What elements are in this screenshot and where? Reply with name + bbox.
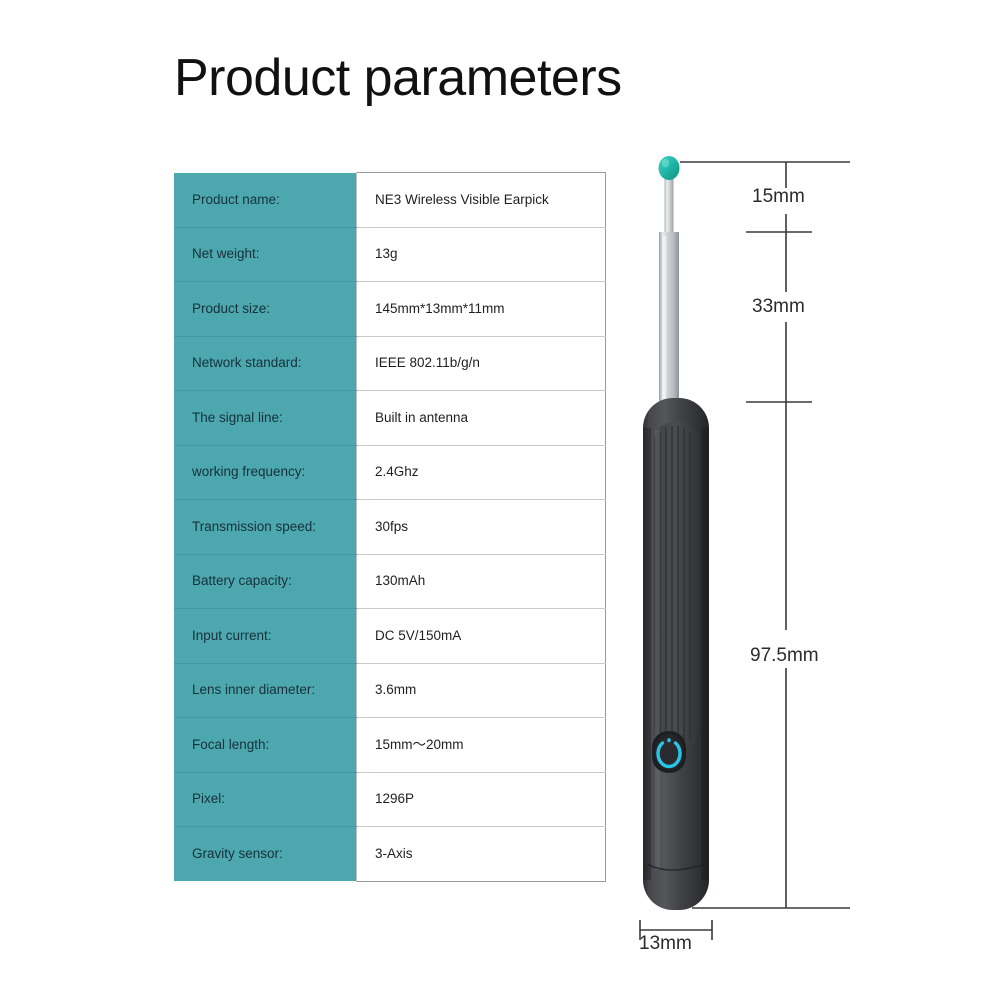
spec-key: Transmission speed: bbox=[174, 500, 357, 555]
table-row: Transmission speed: 30fps bbox=[174, 500, 606, 555]
spec-value: 13g bbox=[357, 227, 606, 282]
table-row: Input current: DC 5V/150mA bbox=[174, 609, 606, 664]
specification-table: Product name: NE3 Wireless Visible Earpi… bbox=[174, 172, 606, 882]
spec-key: working frequency: bbox=[174, 445, 357, 500]
table-row: Gravity sensor: 3-Axis bbox=[174, 827, 606, 882]
handle-right-shadow bbox=[701, 428, 709, 880]
table-row: Lens inner diameter: 3.6mm bbox=[174, 663, 606, 718]
table-row: Product size: 145mm*13mm*11mm bbox=[174, 282, 606, 337]
table-row: The signal line: Built in antenna bbox=[174, 391, 606, 446]
spec-key: Focal length: bbox=[174, 718, 357, 773]
spec-key: Net weight: bbox=[174, 227, 357, 282]
spec-key: Product size: bbox=[174, 282, 357, 337]
table-row: Net weight: 13g bbox=[174, 227, 606, 282]
spec-value: 15mm～20mm bbox=[357, 718, 606, 773]
spec-value: 130mAh bbox=[357, 554, 606, 609]
silicone-tip bbox=[659, 156, 680, 180]
table-row: Product name: NE3 Wireless Visible Earpi… bbox=[174, 173, 606, 228]
spec-value: IEEE 802.11b/g/n bbox=[357, 336, 606, 391]
spec-key: Input current: bbox=[174, 609, 357, 664]
dimension-label-tip-section: 15mm bbox=[752, 186, 805, 208]
silicone-tip-highlight bbox=[662, 159, 669, 168]
spec-key: The signal line: bbox=[174, 391, 357, 446]
spec-value: 30fps bbox=[357, 500, 606, 555]
spec-value: 145mm*13mm*11mm bbox=[357, 282, 606, 337]
product-illustration bbox=[600, 140, 920, 940]
spec-value: 3-Axis bbox=[357, 827, 606, 882]
spec-key: Network standard: bbox=[174, 336, 357, 391]
table-row: Network standard: IEEE 802.11b/g/n bbox=[174, 336, 606, 391]
dimension-label-shaft-section: 33mm bbox=[752, 296, 805, 318]
table-row: Pixel: 1296P bbox=[174, 772, 606, 827]
handle-highlight bbox=[655, 430, 660, 870]
dimension-label-handle-length: 97.5mm bbox=[750, 645, 819, 667]
metal-shaft-highlight bbox=[663, 236, 666, 408]
spec-value: Built in antenna bbox=[357, 391, 606, 446]
handle-left-shadow bbox=[643, 428, 651, 880]
spec-value: 2.4Ghz bbox=[357, 445, 606, 500]
spec-value: DC 5V/150mA bbox=[357, 609, 606, 664]
spec-key: Battery capacity: bbox=[174, 554, 357, 609]
metal-shaft bbox=[659, 232, 679, 410]
table-row: Focal length: 15mm～20mm bbox=[174, 718, 606, 773]
spec-key: Pixel: bbox=[174, 772, 357, 827]
spec-key: Gravity sensor: bbox=[174, 827, 357, 882]
spec-value: 3.6mm bbox=[357, 663, 606, 718]
spec-value: NE3 Wireless Visible Earpick bbox=[357, 173, 606, 228]
dimension-label-handle-width: 13mm bbox=[639, 933, 692, 955]
spec-key: Product name: bbox=[174, 173, 357, 228]
page-title: Product parameters bbox=[174, 48, 622, 108]
spec-key: Lens inner diameter: bbox=[174, 663, 357, 718]
table-row: working frequency: 2.4Ghz bbox=[174, 445, 606, 500]
spec-value: 1296P bbox=[357, 772, 606, 827]
table-row: Battery capacity: 130mAh bbox=[174, 554, 606, 609]
specification-table-body: Product name: NE3 Wireless Visible Earpi… bbox=[174, 173, 606, 882]
